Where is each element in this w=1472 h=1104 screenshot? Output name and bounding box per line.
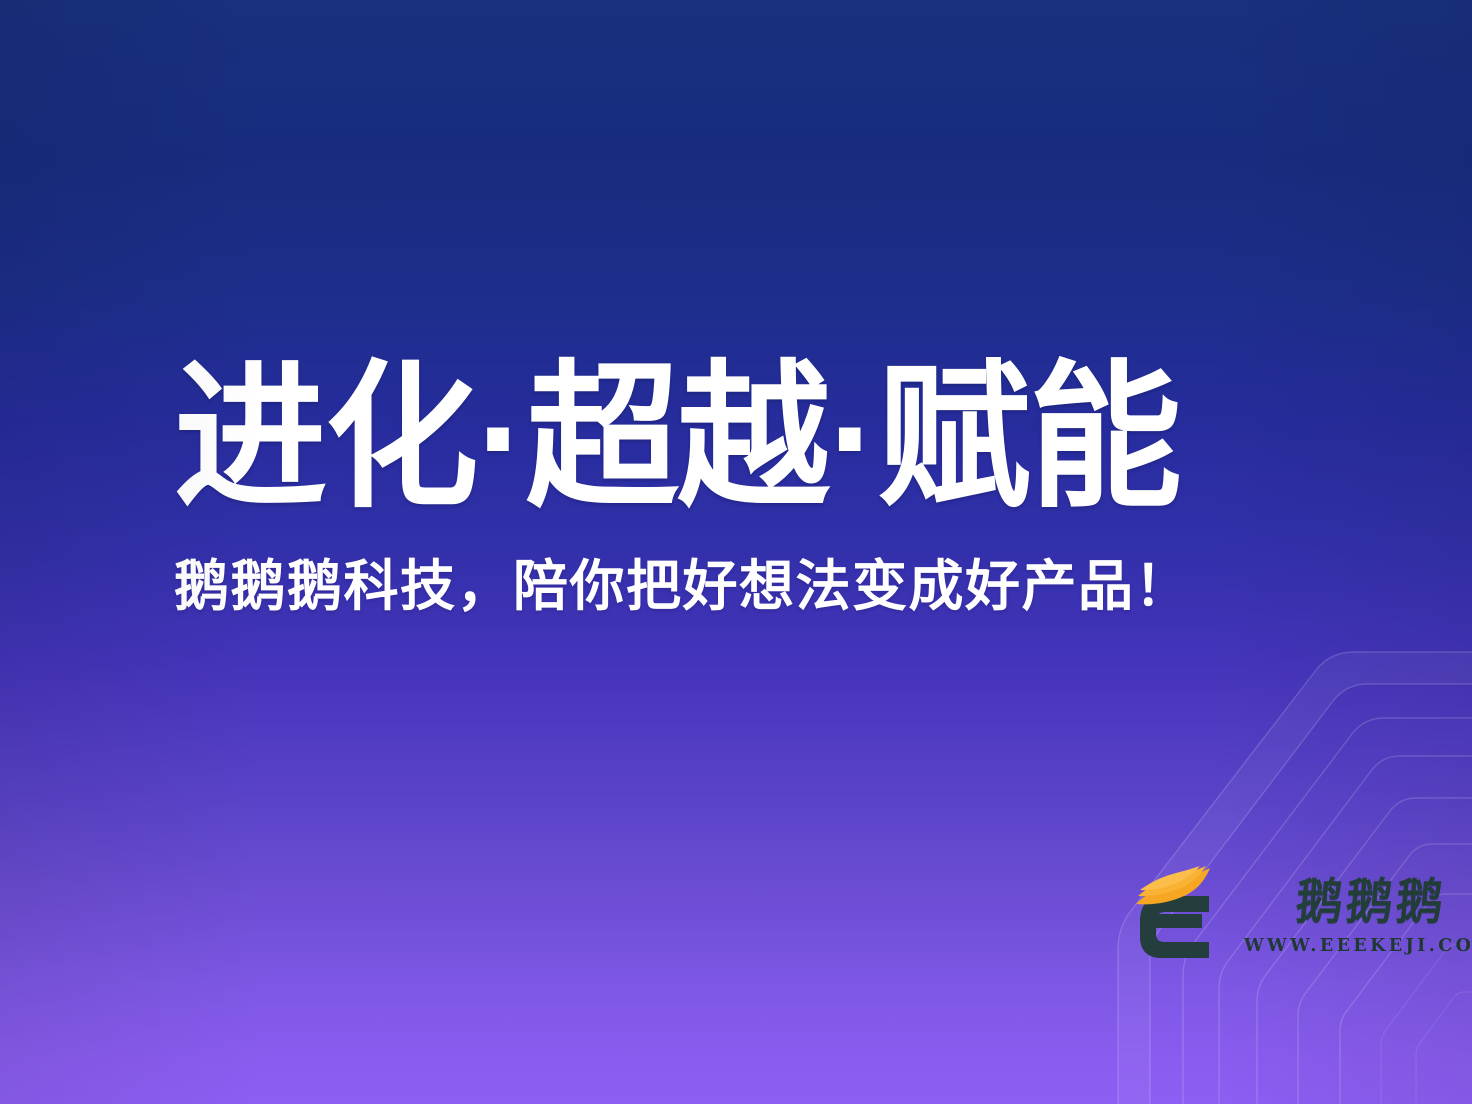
brand-name-cn: 鹅鹅鹅 [1293, 878, 1447, 927]
eee-feather-e-logo-icon [1126, 862, 1222, 962]
brand-logo: 鹅鹅鹅 WWW.EEEKEJI.COM [1126, 862, 1472, 962]
subtitle: 鹅鹅鹅科技，陪你把好想法变成好产品！ [174, 520, 1294, 618]
brand-text: 鹅鹅鹅 WWW.EEEKEJI.COM [1244, 869, 1472, 956]
headline-block: 进化·超越·赋能 鹅鹅鹅科技，陪你把好想法变成好产品！ [174, 356, 1294, 618]
page-title: 进化·超越·赋能 [174, 356, 1260, 520]
poster-canvas: 进化·超越·赋能 鹅鹅鹅科技，陪你把好想法变成好产品！ 鹅鹅鹅 WWW.EEEK… [0, 0, 1472, 1104]
